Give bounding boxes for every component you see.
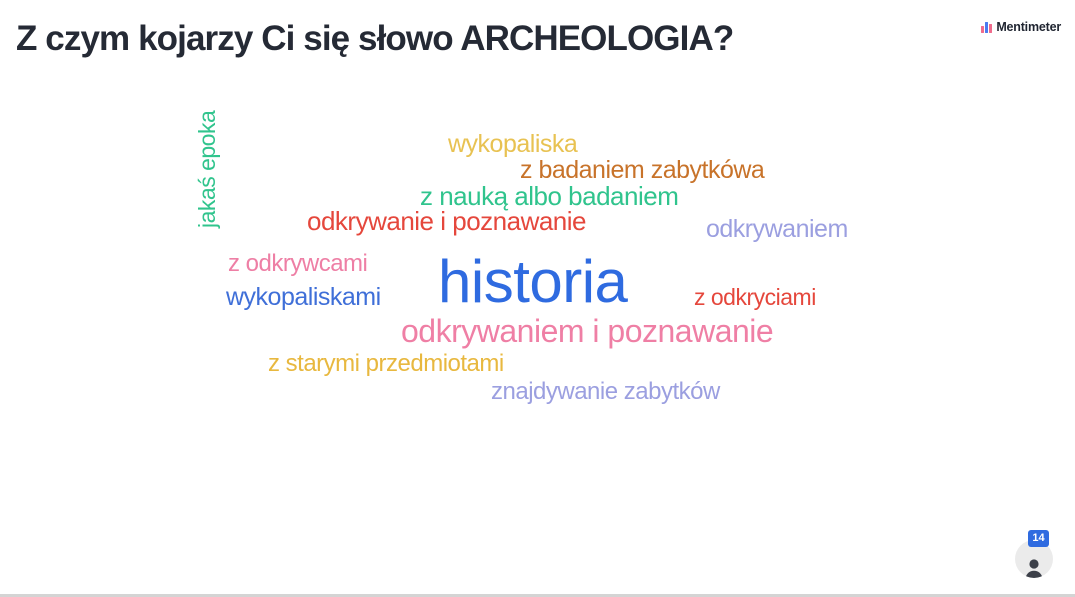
cloud-word: odkrywaniem i poznawanie	[401, 315, 773, 347]
participant-indicator[interactable]: 14	[1015, 534, 1053, 572]
cloud-word: historia	[438, 252, 627, 312]
participant-count-badge: 14	[1028, 530, 1049, 547]
cloud-word: z starymi przedmiotami	[268, 352, 504, 376]
cloud-word: wykopaliskami	[226, 285, 381, 310]
page-title: Z czym kojarzy Ci się słowo ARCHEOLOGIA?	[16, 16, 956, 62]
cloud-word: z badaniem zabytkówa	[520, 158, 764, 183]
mentimeter-brand: Mentimeter	[981, 20, 1061, 34]
cloud-word: znajdywanie zabytków	[491, 380, 720, 404]
person-icon	[1024, 558, 1044, 578]
brand-name: Mentimeter	[996, 20, 1061, 34]
cloud-word: wykopaliska	[448, 132, 577, 157]
cloud-word: z odkrywcami	[228, 252, 367, 276]
presentation-slide: Z czym kojarzy Ci się słowo ARCHEOLOGIA?…	[0, 0, 1075, 597]
cloud-word: z odkryciami	[694, 286, 816, 309]
cloud-word: jakaś epoka	[196, 111, 219, 228]
word-cloud: wykopaliskaz badaniem zabytkówaz nauką a…	[0, 100, 1075, 430]
bar-chart-icon	[981, 22, 992, 33]
cloud-word: odkrywanie i poznawanie	[307, 208, 586, 234]
cloud-word: odkrywaniem	[706, 217, 848, 242]
